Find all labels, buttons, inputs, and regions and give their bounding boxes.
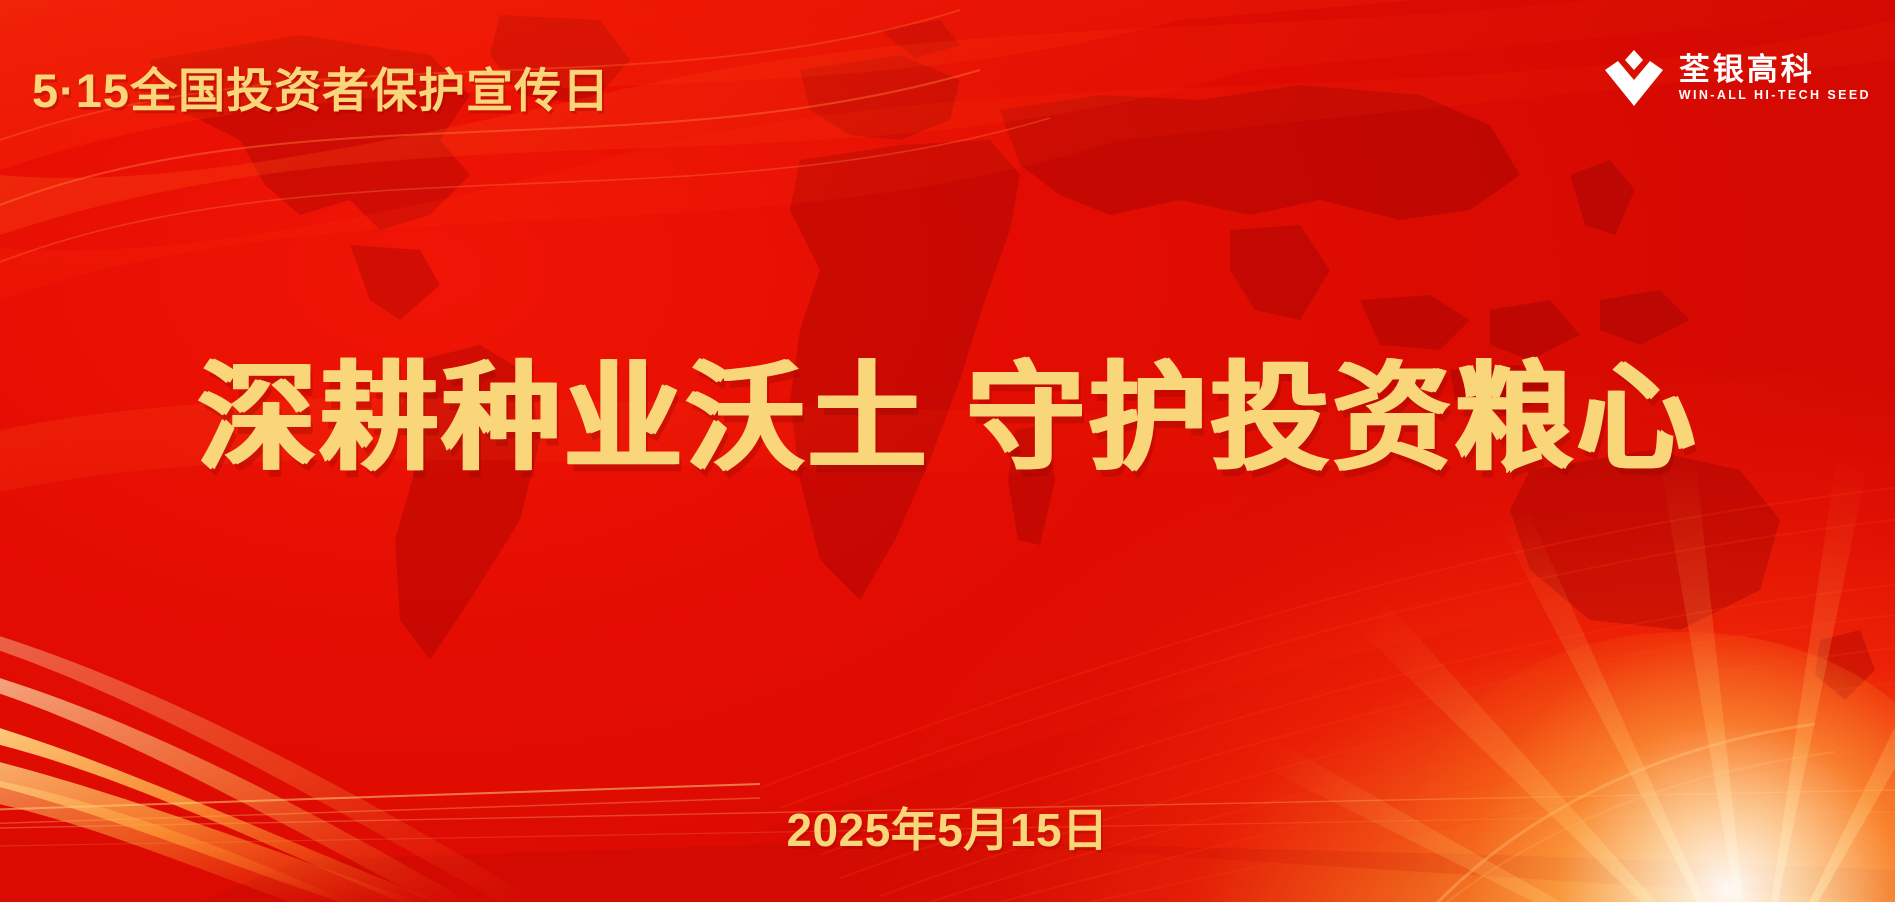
logo-company-name-en: WIN-ALL HI-TECH SEED [1679, 88, 1871, 102]
main-slogan: 深耕种业沃土 守护投资粮心 [0, 352, 1895, 488]
logo-company-name-cn: 荃银高科 [1679, 54, 1815, 86]
event-date: 2025年5月15日 [0, 794, 1895, 860]
logo-text-block: 荃银高科 WIN-ALL HI-TECH SEED [1679, 54, 1871, 102]
company-logo: 荃银高科 WIN-ALL HI-TECH SEED [1603, 48, 1871, 108]
sun-glow-core [1415, 632, 1895, 902]
event-banner: 5·15全国投资者保护宣传日 荃银高科 WIN-ALL HI-TECH SEED… [0, 0, 1895, 902]
chevron-diamond-icon [1603, 48, 1665, 108]
page-title: 5·15全国投资者保护宣传日 [32, 52, 610, 121]
